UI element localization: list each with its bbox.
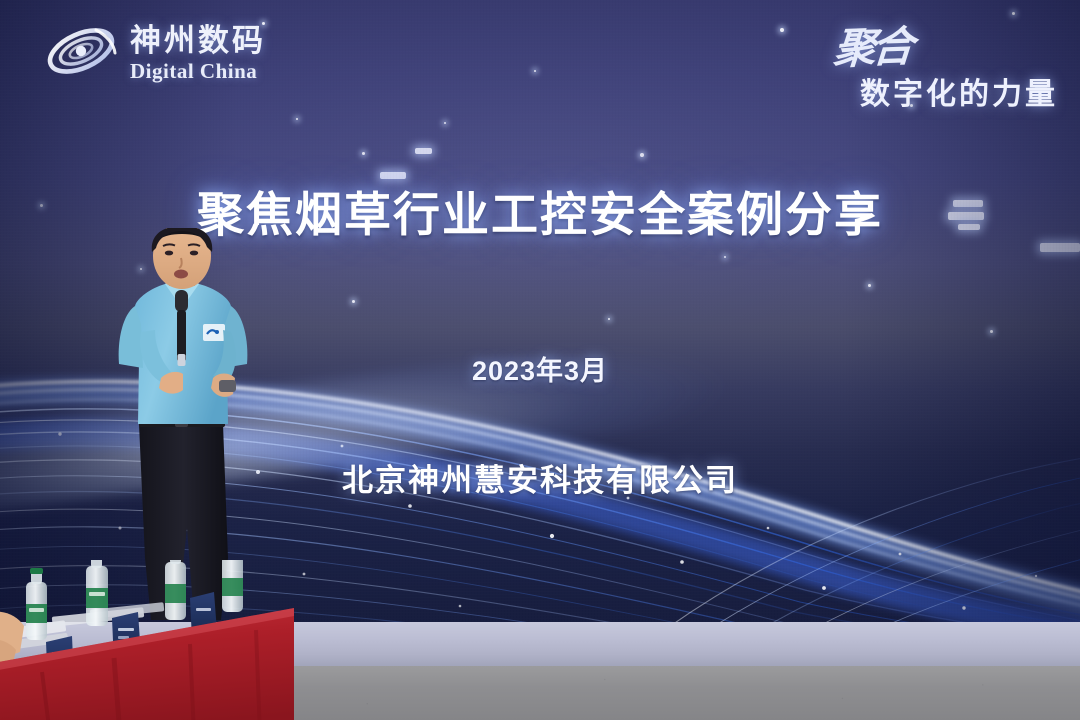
head-table — [0, 560, 294, 720]
water-bottle — [165, 560, 186, 620]
presentation-clicker — [219, 380, 236, 392]
slogan-brush-text: 聚合 — [832, 13, 913, 77]
brand-name-en: Digital China — [130, 61, 266, 82]
event-slogan: 聚合 数字化的力量 — [834, 14, 1058, 113]
swirl-spiral-icon — [44, 18, 118, 89]
conference-stage-photo: 神州数码 Digital China 聚合 数字化的力量 聚焦烟草行业工控安全案… — [0, 0, 1080, 720]
slogan-subtitle: 数字化的力量 — [834, 69, 1058, 113]
digital-china-logo: 神州数码 Digital China — [44, 18, 266, 89]
water-bottle — [222, 560, 243, 612]
water-bottle — [26, 568, 47, 640]
brand-name-cn: 神州数码 — [130, 25, 266, 56]
brand-wordmark: 神州数码 Digital China — [130, 25, 266, 82]
water-bottle — [86, 560, 108, 626]
company-logo-badge — [203, 324, 225, 341]
